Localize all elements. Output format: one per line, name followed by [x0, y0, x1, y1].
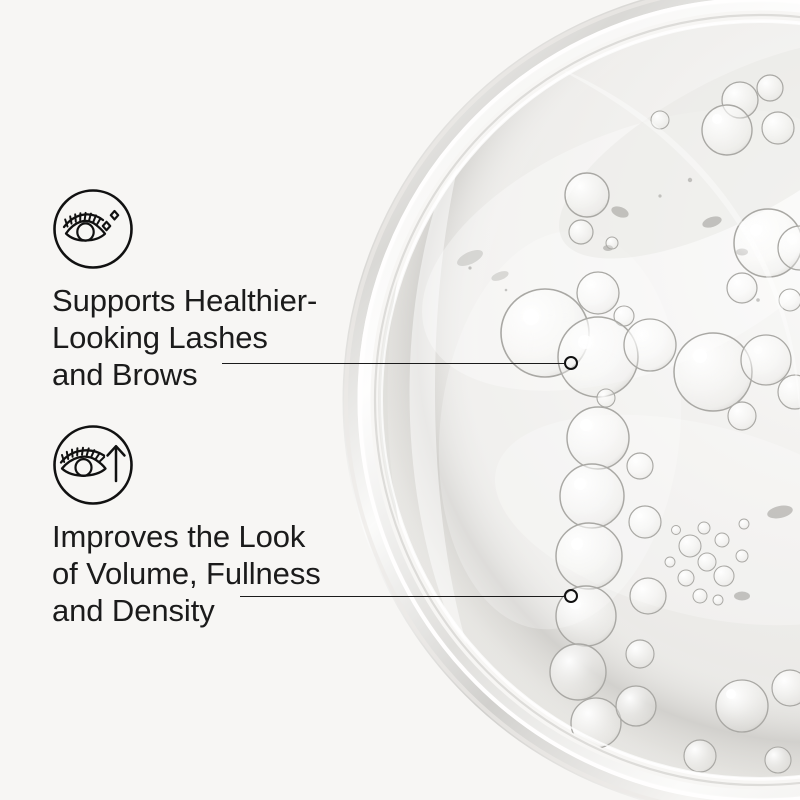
- feature-callout-lashes-brows: Supports Healthier- Looking Lashes and B…: [52, 188, 317, 393]
- feature-callout-volume-density: Improves the Look of Volume, Fullness an…: [52, 424, 321, 629]
- petri-dish-photo: [0, 0, 800, 800]
- product-benefits-graphic: Supports Healthier- Looking Lashes and B…: [0, 0, 800, 800]
- eye-lashes-up-arrow-icon: [52, 424, 134, 506]
- eye-lashes-sparkle-icon: [52, 188, 134, 270]
- feature-text-volume-density: Improves the Look of Volume, Fullness an…: [52, 518, 321, 629]
- feature-text-lashes-brows: Supports Healthier- Looking Lashes and B…: [52, 282, 317, 393]
